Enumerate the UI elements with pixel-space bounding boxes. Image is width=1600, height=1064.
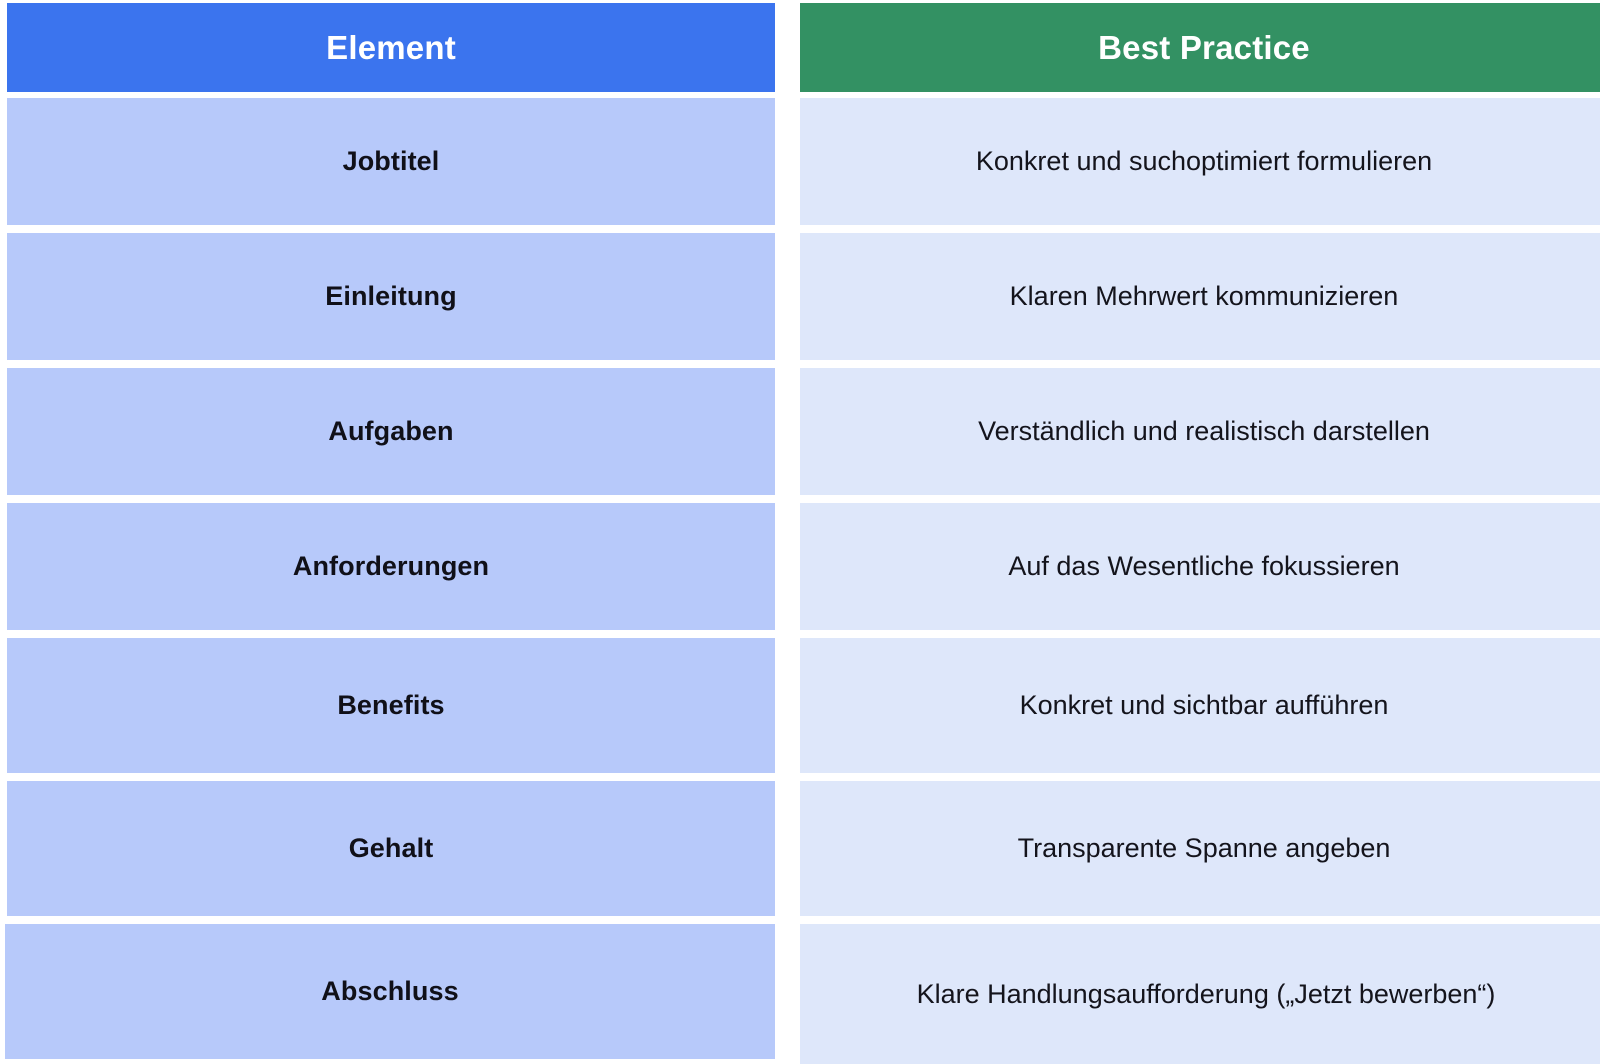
- table-grid: Element Best Practice Jobtitel Konkret u…: [0, 0, 1600, 1064]
- table-row-element-6: Abschluss: [5, 924, 775, 1059]
- table-row-best-practice-0: Konkret und suchoptimiert formulieren: [800, 98, 1600, 225]
- table-row-element-1: Einleitung: [7, 233, 775, 360]
- column-header-best-practice: Best Practice: [800, 3, 1600, 92]
- table-row-element-2: Aufgaben: [7, 368, 775, 495]
- table-row-best-practice-2: Verständlich und realistisch darstellen: [800, 368, 1600, 495]
- table-row-element-0: Jobtitel: [7, 98, 775, 225]
- table-row-best-practice-1: Klaren Mehrwert kommunizieren: [800, 233, 1600, 360]
- table-row-element-4: Benefits: [7, 638, 775, 773]
- table-row-best-practice-3: Auf das Wesentliche fokussieren: [800, 503, 1600, 630]
- best-practice-table: Element Best Practice Jobtitel Konkret u…: [0, 0, 1600, 1064]
- table-row-best-practice-5: Transparente Spanne angeben: [800, 781, 1600, 916]
- table-row-element-3: Anforderungen: [7, 503, 775, 630]
- table-row-best-practice-4: Konkret und sichtbar aufführen: [800, 638, 1600, 773]
- table-row-best-practice-6: Klare Handlungsaufforderung („Jetzt bewe…: [800, 924, 1600, 1064]
- column-header-element: Element: [7, 3, 775, 92]
- table-row-element-5: Gehalt: [7, 781, 775, 916]
